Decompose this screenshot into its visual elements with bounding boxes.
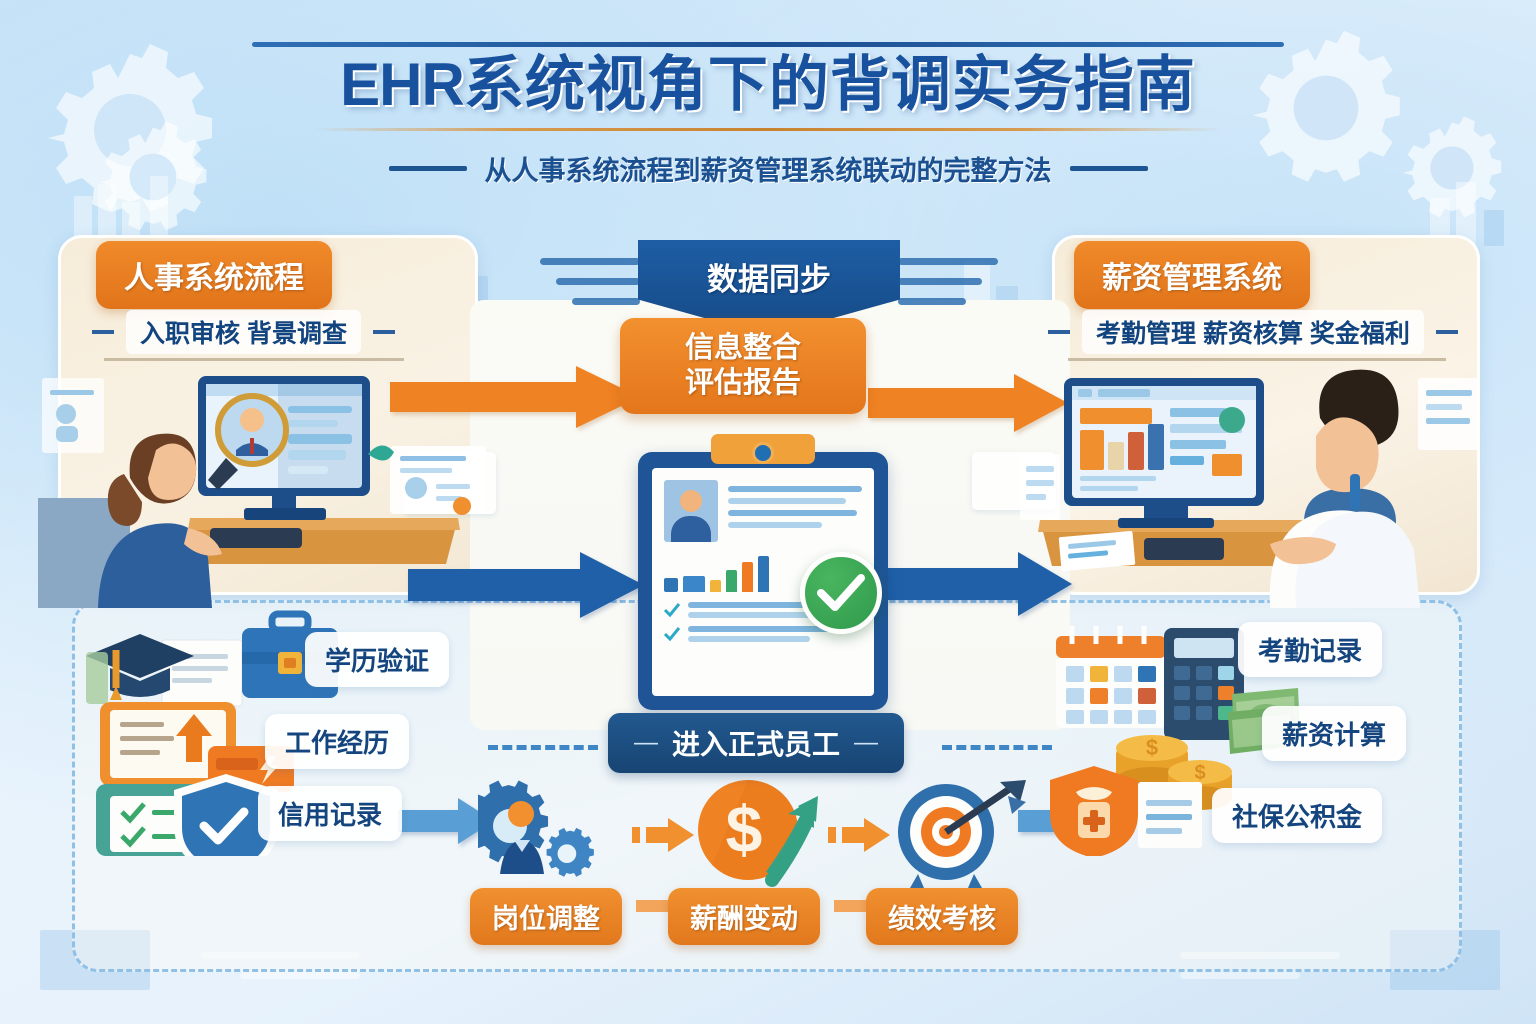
dashed-line-left	[488, 745, 598, 750]
svg-text:$: $	[1146, 735, 1158, 760]
svg-text:$: $	[726, 792, 763, 866]
chip-salary-calculation[interactable]: 薪资计算	[1262, 706, 1406, 761]
flow-step-job-adjustment[interactable]: 岗位调整	[470, 888, 622, 945]
speed-line	[556, 278, 640, 285]
salary-change-icon-group: $	[694, 776, 820, 890]
check-mark-icon	[664, 627, 680, 641]
flow-arrow-2	[828, 818, 890, 852]
clipboard-knob	[752, 442, 774, 464]
right-panel-header: 薪资管理系统	[1074, 241, 1310, 309]
page-title: EHR系统视角下的背调实务指南	[252, 53, 1284, 118]
gear-icon	[88, 112, 218, 242]
subtitle-dash-right	[1070, 166, 1148, 171]
right-panel-subheader-row: 考勤管理 薪资核算 奖金福利	[1048, 310, 1458, 354]
left-panel-header: 人事系统流程	[96, 241, 332, 309]
title-rule-mid	[314, 128, 1222, 131]
gear-icon	[30, 30, 230, 230]
title-english: EHR	[340, 51, 464, 118]
payroll-workstation-illustration	[1020, 358, 1480, 608]
integration-line-1: 信息整合	[685, 331, 801, 366]
title-chinese: 系统视角下的背调实务指南	[464, 51, 1196, 118]
chip-education-verification[interactable]: 学历验证	[305, 632, 449, 687]
subtitle-dash-left	[389, 166, 467, 171]
chip-credit-record[interactable]: 信用记录	[258, 786, 402, 841]
chip-attendance-record[interactable]: 考勤记录	[1238, 622, 1382, 677]
title-block: EHR系统视角下的背调实务指南 从人事系统流程到薪资管理系统联动的完整方法	[252, 42, 1284, 188]
subheader-dash-left	[92, 330, 114, 334]
left-panel-subheader: 入职审核 背景调查	[126, 310, 361, 354]
performance-review-icon-group	[888, 780, 1028, 890]
formal-employee-label: 进入正式员工	[672, 723, 840, 763]
formal-dash-left: —	[634, 729, 658, 757]
right-panel-subheader: 考勤管理 薪资核算 奖金福利	[1082, 310, 1424, 354]
formal-dash-right: —	[854, 729, 878, 757]
candidate-photo	[664, 480, 718, 542]
speed-line	[540, 258, 640, 265]
svg-text:$: $	[1194, 762, 1205, 784]
speed-line	[898, 278, 982, 285]
hr-workstation-illustration	[38, 358, 508, 608]
subheader-dash-left	[1048, 330, 1070, 334]
dashed-line-right	[942, 745, 1052, 750]
gear-icon	[1392, 108, 1512, 228]
check-mark-icon	[664, 603, 680, 617]
title-rule-top	[252, 42, 1284, 47]
green-check-badge-icon	[800, 552, 882, 634]
flow-arrow-1	[632, 818, 694, 852]
integration-line-2: 评估报告	[685, 366, 801, 401]
subtitle-row: 从人事系统流程到薪资管理系统联动的完整方法	[252, 149, 1284, 188]
speed-line	[898, 258, 998, 265]
subheader-dash-right	[373, 330, 395, 334]
data-sync-label: 数据同步	[707, 254, 831, 299]
job-adjustment-icon-group	[478, 778, 628, 890]
subheader-dash-right	[1436, 330, 1458, 334]
left-panel-subheader-row: 入职审核 背景调查	[92, 310, 395, 354]
infographic-poster: EHR系统视角下的背调实务指南 从人事系统流程到薪资管理系统联动的完整方法	[0, 0, 1536, 1024]
formal-employee-banner: — 进入正式员工 —	[608, 713, 904, 773]
speed-line	[898, 298, 966, 305]
chip-work-experience[interactable]: 工作经历	[265, 714, 409, 769]
integration-report-box: 信息整合 评估报告	[620, 318, 866, 414]
chip-social-insurance-fund[interactable]: 社保公积金	[1212, 788, 1382, 843]
page-subtitle: 从人事系统流程到薪资管理系统联动的完整方法	[485, 149, 1052, 188]
flow-step-salary-change[interactable]: 薪酬变动	[668, 888, 820, 945]
flow-step-performance-review[interactable]: 绩效考核	[866, 888, 1018, 945]
speed-line	[572, 298, 640, 305]
